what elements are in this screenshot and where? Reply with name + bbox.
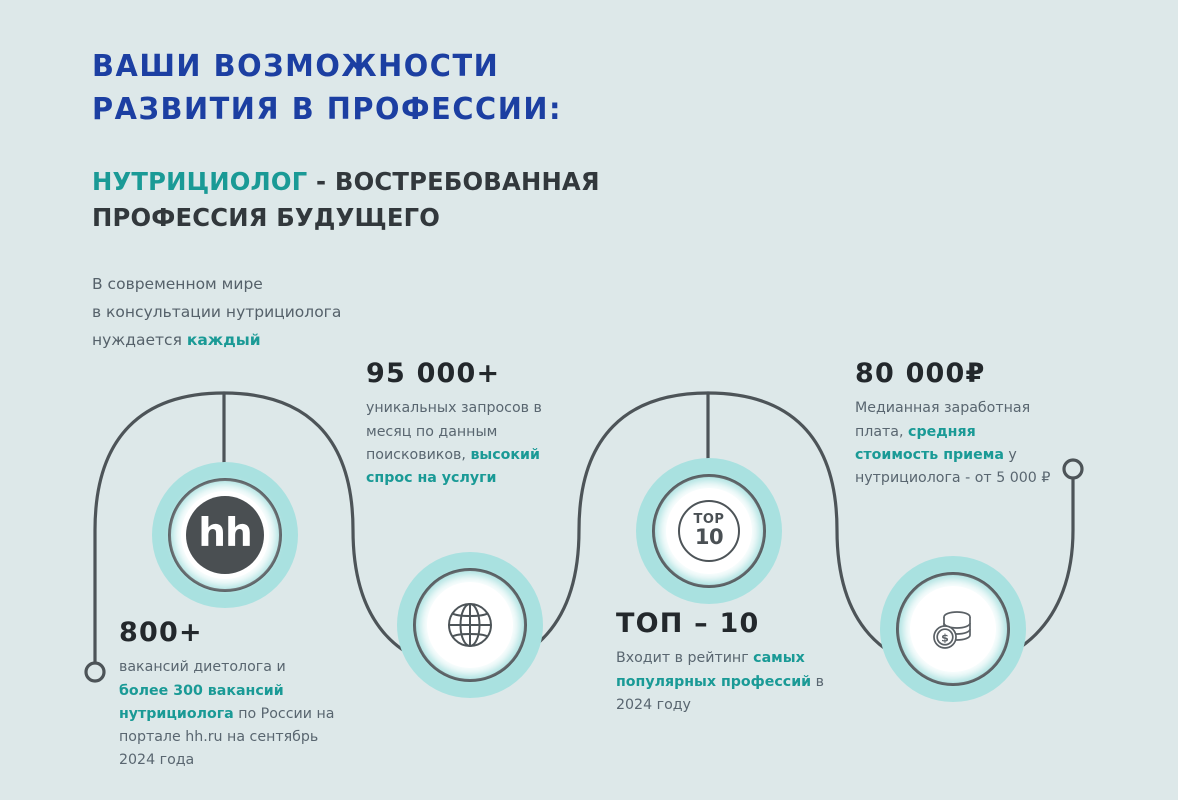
svg-text:$: $ [941,632,949,645]
intro-line-3-accent: каждый [187,331,261,349]
hh-logo-label: hh [198,514,252,553]
stat-block-hh: 800+ вакансий диетолога и более 300 вака… [119,617,337,772]
intro-line-2: в консультации нутрициолога [92,303,341,321]
stat-value-top10: ТОП – 10 [616,608,826,640]
top10-label-bottom: 10 [695,526,723,548]
page-title: ВАШИ ВОЗМОЖНОСТИ РАЗВИТИЯ В ПРОФЕССИИ: [92,46,562,131]
stat-value-salary: 80 000₽ [855,358,1060,390]
globe-icon [442,597,498,653]
top10-badge-icon: TOP 10 [678,500,740,562]
node-disc-hh[interactable]: hh [181,491,269,579]
coins-icon: $ [926,602,980,656]
path-end-dot [1064,460,1082,478]
node-disc-top10[interactable]: TOP 10 [666,488,752,574]
intro-line-3-prefix: нуждается [92,331,187,349]
stat-value-queries: 95 000+ [366,358,566,390]
stat-value-hh: 800+ [119,617,337,649]
path-start-dot [86,663,104,681]
node-disc-coins[interactable]: $ [910,586,996,672]
node-disc-globe[interactable] [427,582,513,668]
intro-line-1: В современном мире [92,275,263,293]
stat-block-top10: ТОП – 10 Входит в рейтинг самых популярн… [616,608,826,717]
intro-paragraph: В современном мире в консультации нутриц… [92,270,341,355]
subtitle-accent: НУТРИЦИОЛОГ [92,167,307,196]
stat-desc-salary: Медианная заработная плата, средняя стои… [855,397,1060,490]
stat-block-queries: 95 000+ уникальных запросов в месяц по д… [366,358,566,490]
stat-desc-top10: Входит в рейтинг самых популярных профес… [616,647,826,716]
stat-desc-hh: вакансий диетолога и более 300 вакансий … [119,656,337,772]
hh-logo-icon: hh [186,496,264,574]
page-subtitle: НУТРИЦИОЛОГ - ВОСТРЕБОВАННАЯ ПРОФЕССИЯ Б… [92,164,713,236]
stat-desc-queries: уникальных запросов в месяц по данным по… [366,397,566,490]
stat-block-salary: 80 000₽ Медианная заработная плата, сред… [855,358,1060,490]
infographic-canvas: ВАШИ ВОЗМОЖНОСТИ РАЗВИТИЯ В ПРОФЕССИИ: Н… [0,0,1178,800]
